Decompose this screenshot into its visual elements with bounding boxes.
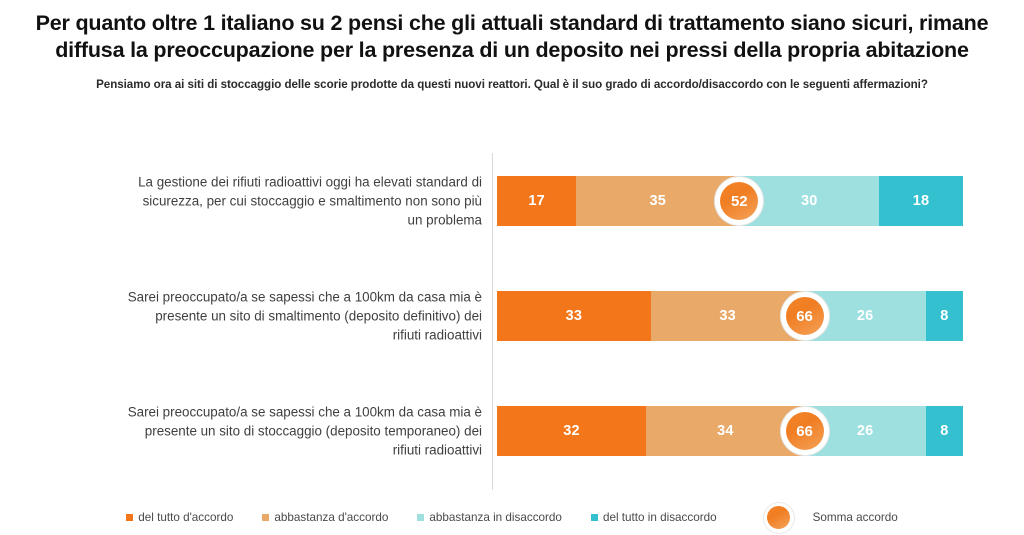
category-label: Sarei preoccupato/a se sapessi che a 100…	[42, 287, 482, 344]
somma-accordo-marker-icon	[764, 503, 794, 533]
chart-legend: del tutto d'accordo abbastanza d'accordo…	[0, 500, 1024, 535]
chart-row: Sarei preoccupato/a se sapessi che a 100…	[0, 406, 1024, 456]
legend-swatch-icon	[126, 514, 133, 521]
somma-accordo-badge: 66	[781, 407, 829, 455]
category-label: La gestione dei rifiuti radioattivi oggi…	[42, 172, 482, 229]
bar-segment-del-tutto-in-disaccordo[interactable]: 8	[926, 291, 963, 341]
legend-item-somma-accordo[interactable]: Somma accordo	[764, 503, 898, 533]
chart-row: Sarei preoccupato/a se sapessi che a 100…	[0, 291, 1024, 341]
chart-plot-area: La gestione dei rifiuti radioattivi oggi…	[0, 147, 1024, 492]
somma-accordo-badge: 66	[781, 292, 829, 340]
page-title: Per quanto oltre 1 italiano su 2 pensi c…	[18, 10, 1006, 65]
legend-swatch-icon	[591, 514, 598, 521]
bar-segment-del-tutto-daccordo[interactable]: 32	[497, 406, 646, 456]
stacked-bar: 32 34 26 8 66	[497, 406, 963, 456]
legend-item-abbastanza-in-disaccordo[interactable]: abbastanza in disaccordo	[417, 511, 562, 524]
legend-item-label: abbastanza d'accordo	[274, 511, 388, 524]
legend-item-del-tutto-in-disaccordo[interactable]: del tutto in disaccordo	[591, 511, 717, 524]
chart-row: La gestione dei rifiuti radioattivi oggi…	[0, 176, 1024, 226]
somma-accordo-marker-fill	[767, 506, 790, 529]
bar-segment-del-tutto-in-disaccordo[interactable]: 18	[879, 176, 963, 226]
somma-accordo-value: 66	[786, 412, 824, 450]
legend-swatch-icon	[417, 514, 424, 521]
somma-accordo-value: 52	[720, 182, 758, 220]
stacked-bar: 33 33 26 8 66	[497, 291, 963, 341]
title-block: Per quanto oltre 1 italiano su 2 pensi c…	[0, 0, 1024, 91]
somma-accordo-badge: 52	[715, 177, 763, 225]
legend-item-del-tutto-daccordo[interactable]: del tutto d'accordo	[126, 511, 233, 524]
bar-segment-del-tutto-daccordo[interactable]: 33	[497, 291, 651, 341]
legend-item-label: del tutto d'accordo	[138, 511, 233, 524]
bar-segment-del-tutto-in-disaccordo[interactable]: 8	[926, 406, 963, 456]
bar-segment-del-tutto-daccordo[interactable]: 17	[497, 176, 576, 226]
legend-item-abbastanza-daccordo[interactable]: abbastanza d'accordo	[262, 511, 388, 524]
chart-subtitle: Pensiamo ora ai siti di stoccaggio delle…	[18, 78, 1006, 91]
legend-item-label: Somma accordo	[813, 511, 898, 524]
somma-accordo-value: 66	[786, 297, 824, 335]
legend-swatch-icon	[262, 514, 269, 521]
legend-item-label: abbastanza in disaccordo	[429, 511, 562, 524]
category-label: Sarei preoccupato/a se sapessi che a 100…	[42, 402, 482, 459]
legend-item-label: del tutto in disaccordo	[603, 511, 717, 524]
stacked-bar: 17 35 30 18 52	[497, 176, 963, 226]
